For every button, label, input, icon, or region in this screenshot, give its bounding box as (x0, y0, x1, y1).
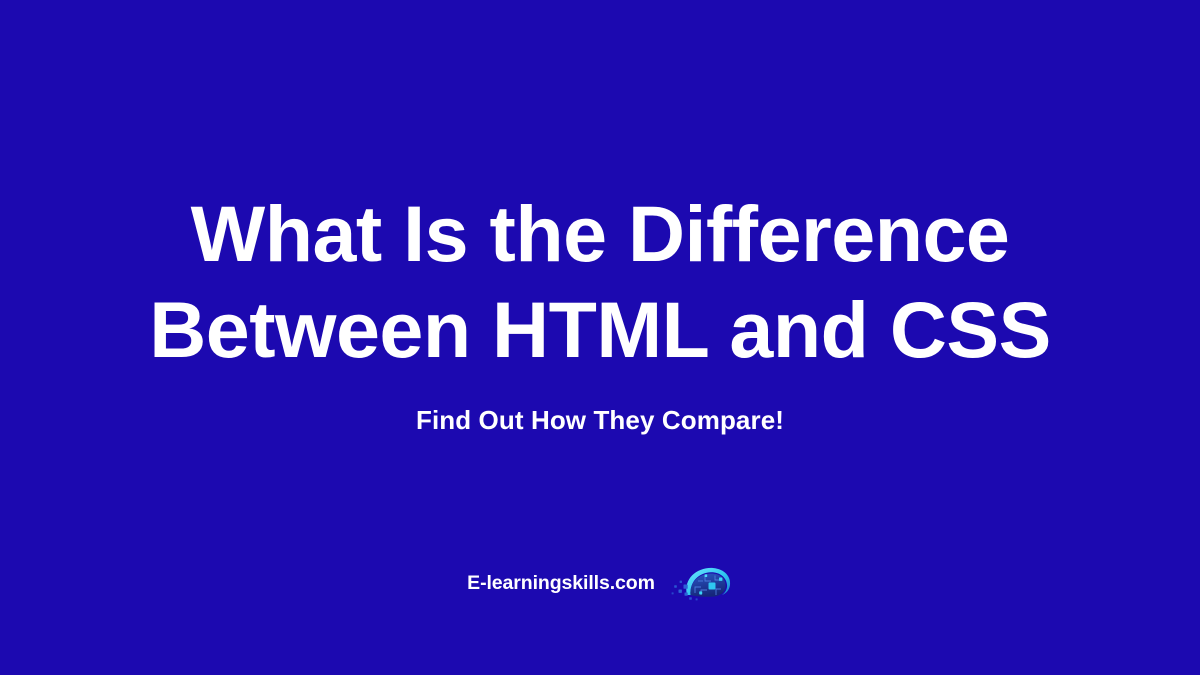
brand-name-text: E-learningskills.com (467, 571, 655, 595)
headline-line-1: What Is the Difference (0, 186, 1200, 282)
footer-brand: E-learningskills.com (0, 562, 1200, 604)
subtitle-text: Find Out How They Compare! (416, 404, 784, 436)
brain-circuit-logo-icon (671, 562, 733, 604)
page-title: What Is the Difference Between HTML and … (0, 186, 1200, 378)
subtitle-container: Find Out How They Compare! (0, 404, 1200, 436)
headline-line-2: Between HTML and CSS (0, 282, 1200, 378)
title-slide: What Is the Difference Between HTML and … (0, 0, 1200, 675)
